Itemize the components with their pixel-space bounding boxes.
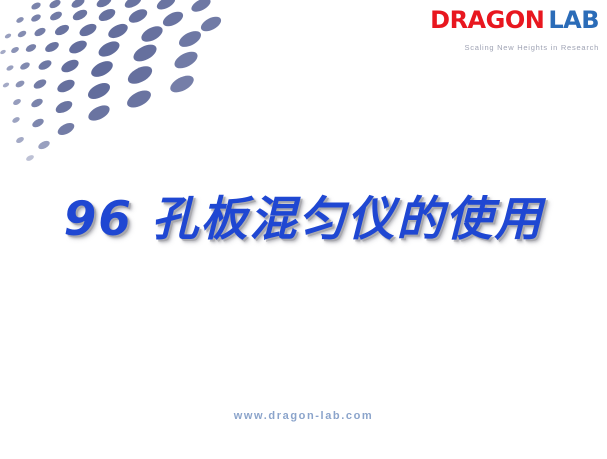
- title-container: 96 孔板混匀仪的使用: [0, 194, 607, 247]
- logo-wordmark: DRAGONLAB: [424, 8, 599, 32]
- logo-brand-dragon: DRAGON: [430, 6, 544, 34]
- logo-tagline: Scaling New Heights in Research: [424, 43, 599, 52]
- logo-brand-lab: LAB: [548, 6, 599, 34]
- halftone-dot-swirl-decoration: [0, 0, 240, 175]
- footer-website-url: www.dragon-lab.com: [0, 410, 607, 422]
- presentation-slide: DRAGONLAB Scaling New Heights in Researc…: [0, 0, 607, 459]
- page-title: 96 孔板混匀仪的使用: [64, 194, 544, 247]
- dragon-lab-logo: DRAGONLAB Scaling New Heights in Researc…: [424, 8, 599, 52]
